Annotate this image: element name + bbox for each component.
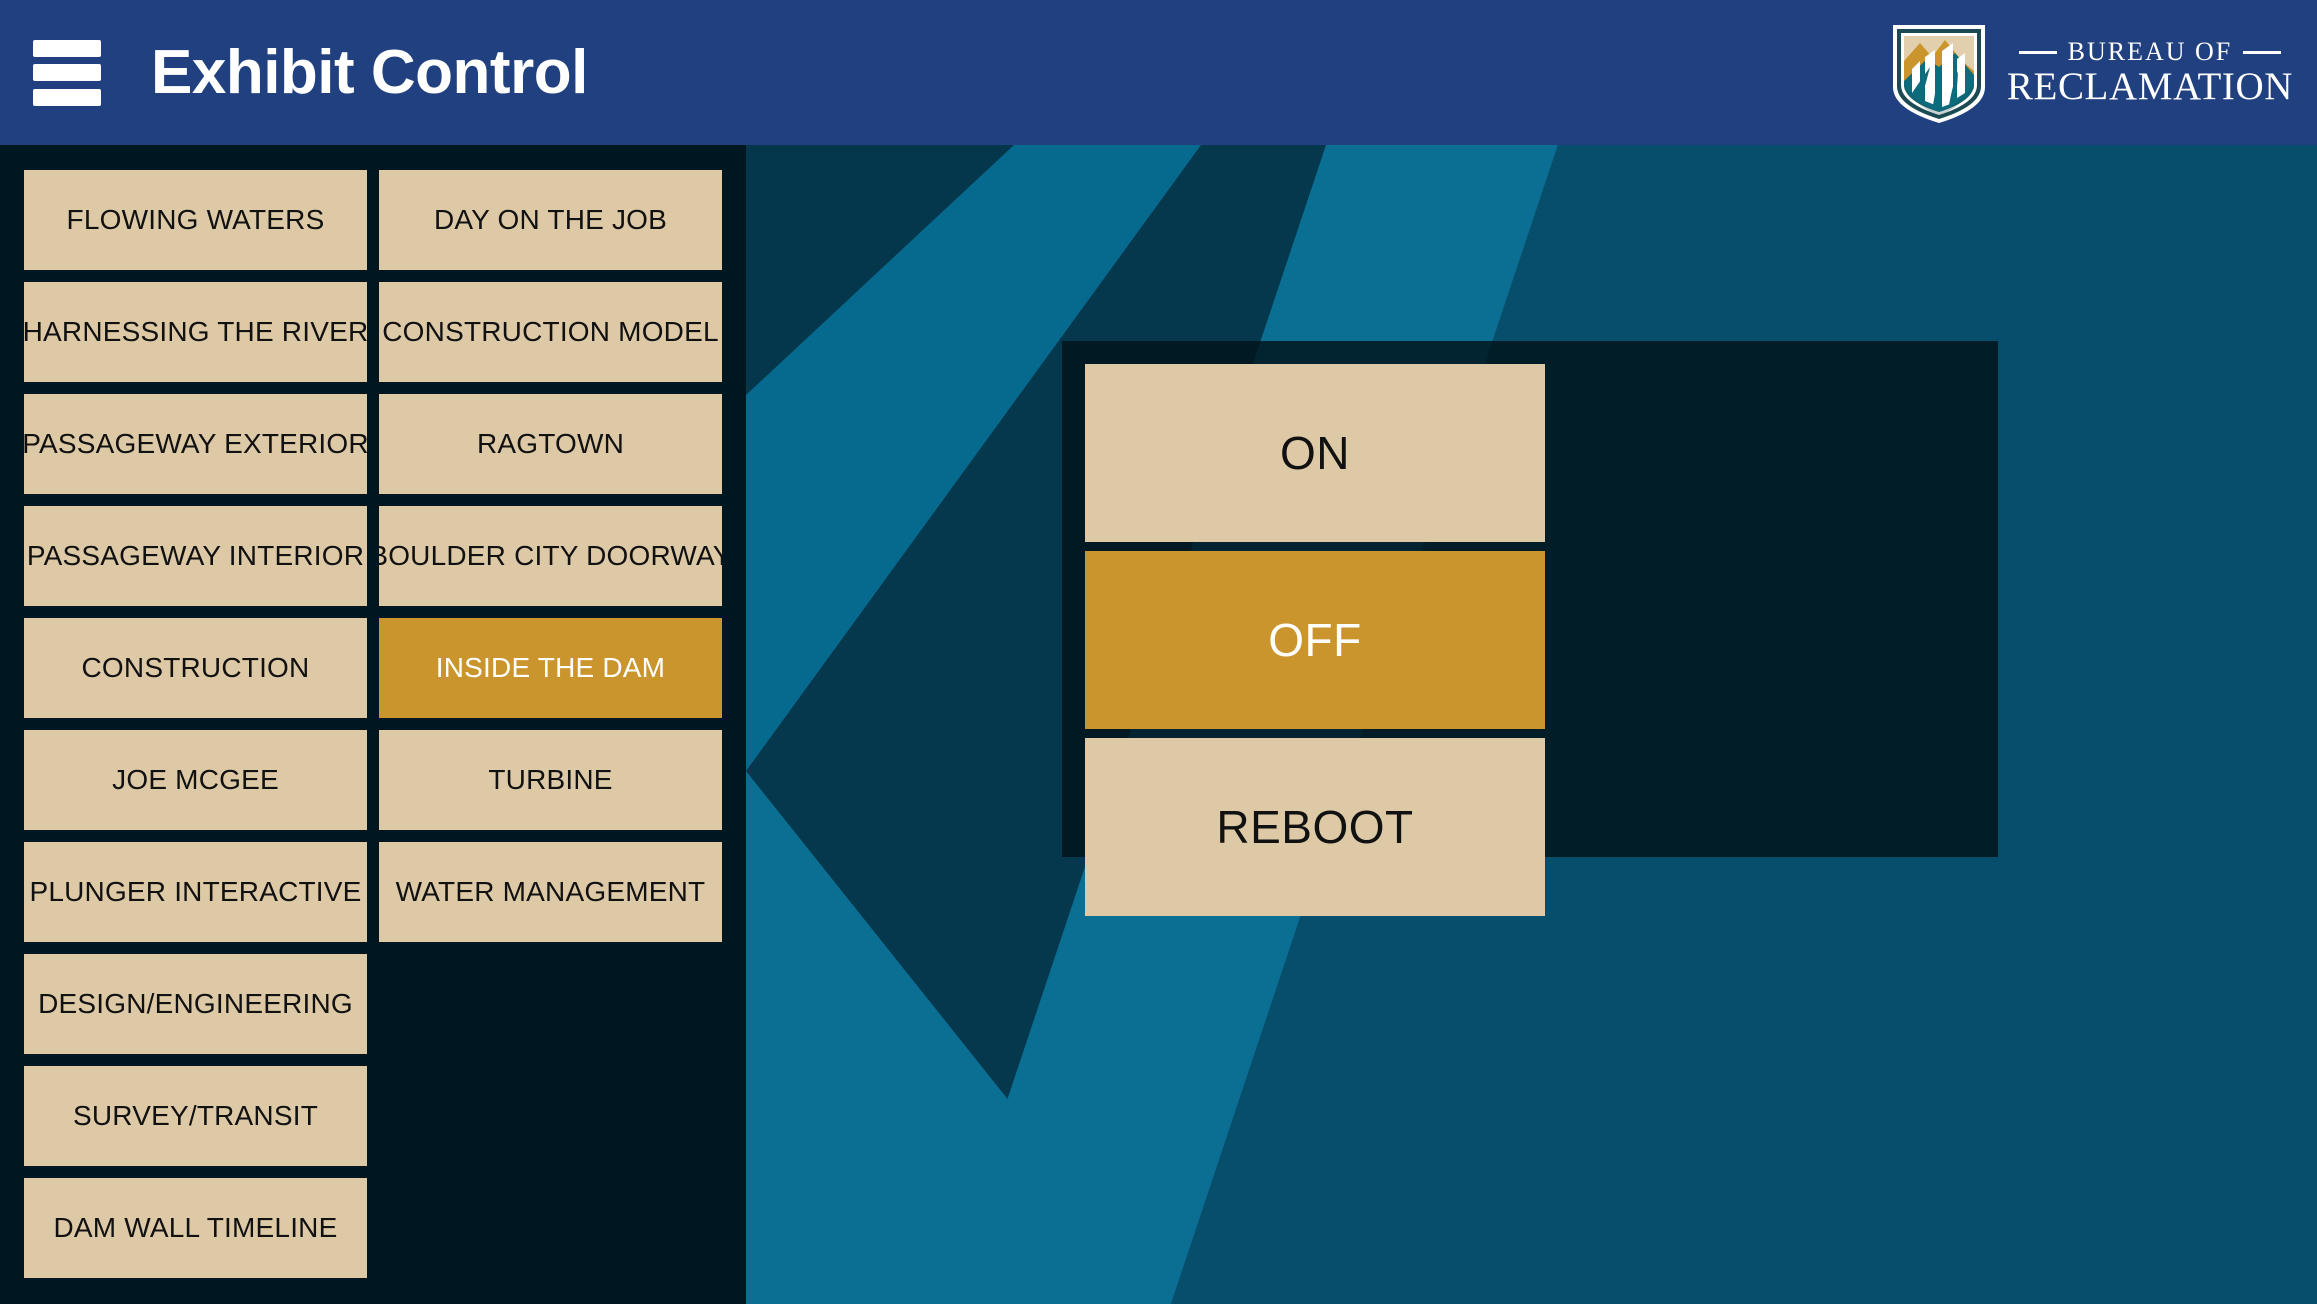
power-control-group: ON OFF REBOOT [1085, 364, 1545, 916]
sidebar-item-construction-model[interactable]: CONSTRUCTION MODEL [379, 282, 722, 382]
sidebar-item-survey-transit[interactable]: SURVEY/TRANSIT [24, 1066, 367, 1166]
sidebar-item-construction[interactable]: CONSTRUCTION [24, 618, 367, 718]
hamburger-menu-icon[interactable] [33, 40, 101, 106]
sidebar-grid-spacer-2 [379, 1066, 722, 1166]
power-on-button[interactable]: ON [1085, 364, 1545, 542]
brand-rule-right [2243, 51, 2281, 54]
brand-line-bureau-of: BUREAU OF [2019, 38, 2282, 65]
sidebar-item-inside-the-dam[interactable]: INSIDE THE DAM [379, 618, 722, 718]
main-stage: ON OFF REBOOT [746, 145, 2317, 1304]
sidebar-item-ragtown[interactable]: RAGTOWN [379, 394, 722, 494]
sidebar-item-design-engineering[interactable]: DESIGN/ENGINEERING [24, 954, 367, 1054]
sidebar-item-day-on-the-job[interactable]: DAY ON THE JOB [379, 170, 722, 270]
brand-reclamation-label: RECLAMATION [2007, 67, 2293, 107]
brand-lockup: BUREAU OF RECLAMATION [1887, 17, 2293, 129]
reboot-button[interactable]: REBOOT [1085, 738, 1545, 916]
brand-rule-left [2019, 51, 2057, 54]
hamburger-bar-1 [33, 40, 101, 57]
hamburger-bar-3 [33, 89, 101, 106]
sidebar-item-dam-wall-timeline[interactable]: DAM WALL TIMELINE [24, 1178, 367, 1278]
app-header: Exhibit Control B [0, 0, 2317, 145]
sidebar-item-boulder-city-doorway[interactable]: BOULDER CITY DOORWAY [379, 506, 722, 606]
brand-text: BUREAU OF RECLAMATION [2007, 38, 2293, 106]
page-title: Exhibit Control [151, 42, 588, 104]
bureau-of-reclamation-shield-icon [1887, 17, 1991, 129]
sidebar-grid-spacer [379, 954, 722, 1054]
sidebar-item-turbine[interactable]: TURBINE [379, 730, 722, 830]
sidebar-item-joe-mcgee[interactable]: JOE MCGEE [24, 730, 367, 830]
exhibit-sidebar: FLOWING WATERS DAY ON THE JOB HARNESSING… [0, 145, 746, 1304]
brand-bureau-of-label: BUREAU OF [2068, 38, 2233, 65]
sidebar-item-passageway-interior[interactable]: PASSAGEWAY INTERIOR [24, 506, 367, 606]
power-off-button[interactable]: OFF [1085, 551, 1545, 729]
sidebar-item-plunger-interactive[interactable]: PLUNGER INTERACTIVE [24, 842, 367, 942]
hamburger-bar-2 [33, 64, 101, 81]
sidebar-item-harnessing-the-river[interactable]: HARNESSING THE RIVER [24, 282, 367, 382]
sidebar-item-flowing-waters[interactable]: FLOWING WATERS [24, 170, 367, 270]
exhibit-button-grid: FLOWING WATERS DAY ON THE JOB HARNESSING… [24, 170, 722, 1278]
sidebar-item-water-management[interactable]: WATER MANAGEMENT [379, 842, 722, 942]
exhibit-control-app: Exhibit Control B [0, 0, 2317, 1304]
sidebar-item-passageway-exterior[interactable]: PASSAGEWAY EXTERIOR [24, 394, 367, 494]
